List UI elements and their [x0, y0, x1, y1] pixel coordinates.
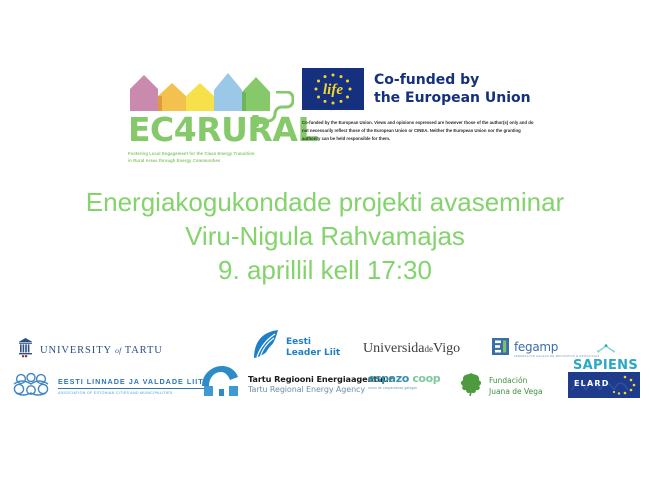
house-icon-4 [214, 73, 242, 111]
elard-emblem-icon: ELARD [568, 372, 640, 398]
espazo-subtitle: union de cooperativas galegas [368, 386, 440, 390]
top-logo-bar: EC4RURAL Fostering Local Engagement for … [0, 58, 650, 163]
uvigo-part-de: de [424, 344, 433, 354]
eu-cofunding-logo: life Co-funded by the European Union Co-… [302, 68, 540, 143]
sparkle-icon [595, 340, 617, 357]
house-icon-1 [130, 75, 158, 111]
fegamp-square-icon [492, 338, 509, 360]
eu-cofunded-line2: the European Union [374, 89, 531, 107]
ell-line2: Leader Liit [286, 348, 340, 359]
juana-line1: Fundación [489, 376, 543, 386]
ut-name-part2: TARTU [125, 345, 163, 356]
ec4rural-tagline-line2: in Rural Areas through Energy Communitie… [128, 158, 278, 165]
juana-line2: Juana de Vega [489, 387, 543, 397]
headline-line-2: Viru-Nigula Rahvamajas [0, 220, 650, 254]
partner-logo-university-of-tartu: UNIVERSITY of TARTU [18, 338, 163, 363]
ec4rural-houses-graphic [130, 66, 260, 111]
ut-name-of: of [115, 346, 121, 355]
partner-logo-sapiens: SAPIENS [573, 340, 638, 373]
ec4rural-tagline: Fostering Local Engagement for the Clean… [128, 151, 278, 164]
eu-disclaimer-text: Co-funded by the European Union. Views a… [302, 119, 534, 143]
svg-text:life: life [323, 82, 343, 98]
ell-line1: Eesti [286, 337, 340, 348]
eu-cofunded-line1: Co-funded by [374, 71, 531, 89]
event-headline: Energiakogukondade projekti avaseminar V… [0, 186, 650, 287]
elard-wordmark: ELARD [574, 379, 610, 388]
espazo-part1: espazo [368, 372, 409, 385]
university-of-tartu-wordmark: UNIVERSITY of TARTU [40, 345, 163, 356]
house-icon-3 [186, 83, 214, 111]
espazo-part2: coop [412, 372, 440, 385]
partner-logo-eesti-leader-liit: Eesti Leader Liit [248, 328, 340, 367]
elvl-subtitle: ASSOCIATION OF ESTONIAN CITIES AND MUNIC… [58, 391, 204, 395]
ornamental-emblem-icon [10, 371, 52, 402]
headline-line-1: Energiakogukondade projekti avaseminar [0, 186, 650, 220]
uvigo-part2: Vigo [433, 341, 460, 356]
classical-building-icon [18, 338, 33, 363]
elvl-wordmark: EESTI LINNADE JA VALDADE LIIT [58, 378, 204, 388]
power-plug-icon [246, 91, 294, 135]
partner-logo-tartu-regional-energy-agency: Tartu Regiooni Energiaagentuur Tartu Reg… [200, 364, 393, 403]
ec4rural-logo: EC4RURAL Fostering Local Engagement for … [128, 66, 296, 164]
partner-logo-espazo-coop: espazo coop union de cooperativas galega… [368, 372, 440, 390]
ec4rural-wordmark-row: EC4RURAL [128, 113, 296, 146]
house-roof-icon [200, 364, 242, 403]
uvigo-part1: Universida [363, 341, 424, 356]
partner-logo-eesti-linnade-ja-valdade-liit: EESTI LINNADE JA VALDADE LIIT ASSOCIATIO… [10, 371, 204, 402]
partner-logo-strip: UNIVERSITY of TARTU EESTI LINNADE JA VAL… [0, 326, 650, 416]
ut-name-part1: UNIVERSITY [40, 345, 112, 356]
partner-logo-fundacion-juana-de-vega: Fundación Juana de Vega [458, 372, 543, 401]
eu-cofunded-text: Co-funded by the European Union [374, 71, 531, 107]
partner-logo-universidade-de-vigo: UniversidadeVigo [363, 339, 460, 357]
sapiens-wordmark: SAPIENS [573, 358, 638, 373]
headline-line-3: 9. aprillil kell 17:30 [0, 254, 650, 288]
leaf-swoosh-icon [248, 328, 282, 367]
eu-life-flag-icon: life [302, 68, 364, 110]
oak-leaf-icon [458, 372, 484, 401]
house-icon-2 [158, 83, 186, 111]
partner-logo-elard: ELARD [568, 372, 640, 398]
